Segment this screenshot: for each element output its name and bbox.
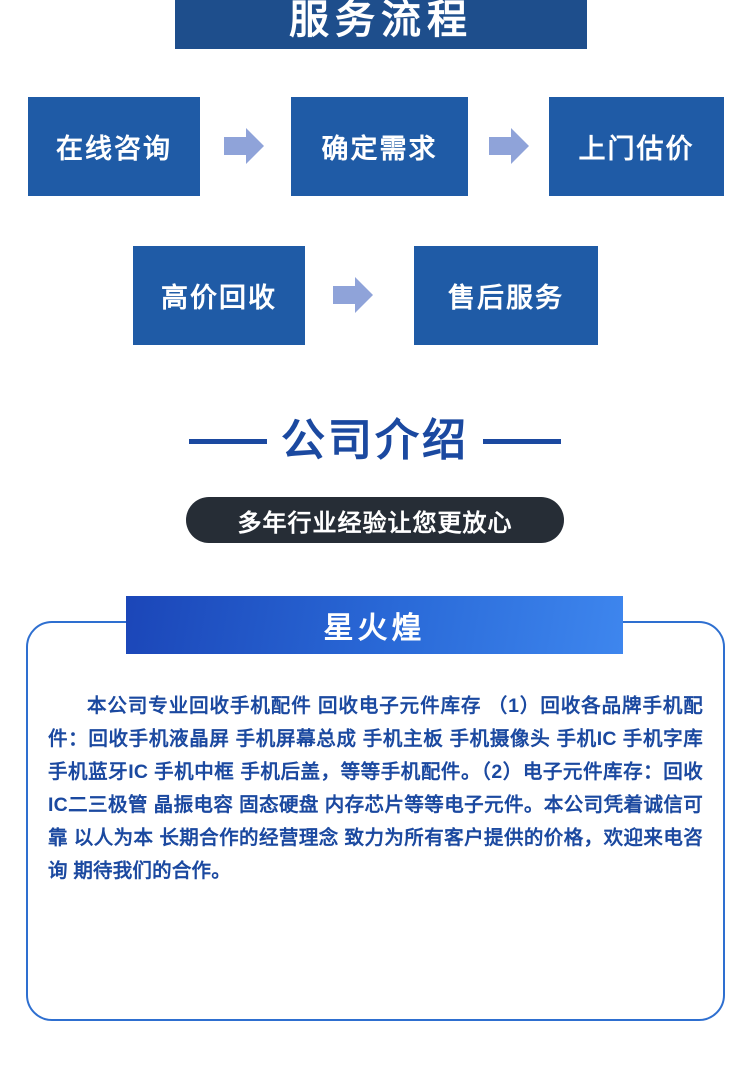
flow-step-label: 售后服务: [448, 276, 564, 315]
company-description-text: 本公司专业回收手机配件 回收电子元件库存 （1）回收各品牌手机配件：回收手机液晶…: [48, 690, 703, 888]
service-process-banner: 服务流程: [175, 0, 587, 49]
company-name-tab: 星火煌: [126, 596, 623, 654]
company-intro-subtitle: 多年行业经验让您更放心: [238, 503, 513, 538]
flow-step-online-consult: 在线咨询: [28, 97, 200, 196]
product-detail-page: 服务流程 在线咨询 确定需求 上门估价 高价回收 售后服务 公司介绍 多年行业经…: [0, 0, 750, 1075]
flow-step-label: 上门估价: [579, 127, 695, 166]
flow-step-high-price-recycle: 高价回收: [133, 246, 305, 345]
company-intro-subtitle-pill: 多年行业经验让您更放心: [186, 497, 564, 543]
flow-step-after-sales: 售后服务: [414, 246, 598, 345]
flow-step-onsite-quote: 上门估价: [549, 97, 724, 196]
company-intro-title: 公司介绍: [281, 419, 469, 463]
arrow-right-icon: [331, 273, 375, 317]
flow-step-confirm-demand: 确定需求: [291, 97, 468, 196]
arrow-right-icon: [487, 124, 531, 168]
arrow-right-icon: [222, 124, 266, 168]
company-name: 星火煌: [324, 603, 426, 647]
heading-rule-left: [189, 439, 267, 444]
heading-rule-right: [483, 439, 561, 444]
flow-step-label: 高价回收: [161, 276, 277, 315]
flow-step-label: 确定需求: [322, 127, 438, 166]
company-intro-heading: 公司介绍: [0, 410, 750, 472]
service-process-title: 服务流程: [289, 0, 473, 49]
flow-step-label: 在线咨询: [56, 127, 172, 166]
